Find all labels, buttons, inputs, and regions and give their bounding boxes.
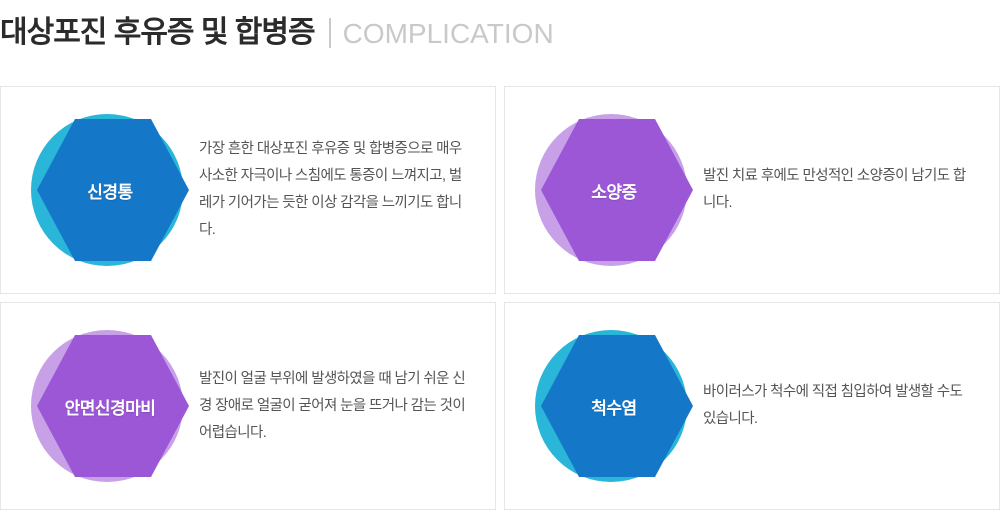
title-divider [329,18,331,48]
page-title: 대상포진 후유증 및 합병증 [0,12,315,48]
card-description: 발진 치료 후에도 만성적인 소양증이 남기도 합니다. [703,163,985,217]
complication-card-grid: 신경통 가장 흔한 대상포진 후유증 및 합병증으로 매우 사소한 자극이나 스… [0,86,1000,518]
badge-pruritus: 소양증 [535,114,687,266]
complication-card: 소양증 발진 치료 후에도 만성적인 소양증이 남기도 합니다. [504,86,1000,294]
badge-label: 척수염 [535,330,693,482]
badge-facial-palsy: 안면신경마비 [31,330,183,482]
card-description: 가장 흔한 대상포진 후유증 및 합병증으로 매우 사소한 자극이나 스침에도 … [199,136,481,244]
badge-neuralgia: 신경통 [31,114,183,266]
page-subtitle: COMPLICATION [343,13,554,48]
badge-label: 신경통 [31,114,189,266]
badge-myelitis: 척수염 [535,330,687,482]
complication-card: 신경통 가장 흔한 대상포진 후유증 및 합병증으로 매우 사소한 자극이나 스… [0,86,496,294]
card-description-text: 발진 치료 후에도 만성적인 소양증이 남기도 합니다. [703,163,975,217]
badge-label: 안면신경마비 [31,330,189,482]
card-row-2: 안면신경마비 발진이 얼굴 부위에 발생하였을 때 남기 쉬운 신경 장애로 얼… [0,302,1000,510]
complication-card: 척수염 바이러스가 척수에 직접 침입하여 발생할 수도 있습니다. [504,302,1000,510]
card-description-text: 발진이 얼굴 부위에 발생하였을 때 남기 쉬운 신경 장애로 얼굴이 굳어져 … [199,366,471,447]
page-header: 대상포진 후유증 및 합병증 COMPLICATION [0,0,554,60]
badge-label: 소양증 [535,114,693,266]
complication-card: 안면신경마비 발진이 얼굴 부위에 발생하였을 때 남기 쉬운 신경 장애로 얼… [0,302,496,510]
card-description-text: 가장 흔한 대상포진 후유증 및 합병증으로 매우 사소한 자극이나 스침에도 … [199,136,471,244]
card-description: 발진이 얼굴 부위에 발생하였을 때 남기 쉬운 신경 장애로 얼굴이 굳어져 … [199,366,481,447]
card-description: 바이러스가 척수에 직접 침입하여 발생할 수도 있습니다. [703,379,985,433]
card-row-1: 신경통 가장 흔한 대상포진 후유증 및 합병증으로 매우 사소한 자극이나 스… [0,86,1000,294]
card-description-text: 바이러스가 척수에 직접 침입하여 발생할 수도 있습니다. [703,379,975,433]
complication-page: 대상포진 후유증 및 합병증 COMPLICATION 신경통 가장 흔한 대상… [0,0,1000,516]
